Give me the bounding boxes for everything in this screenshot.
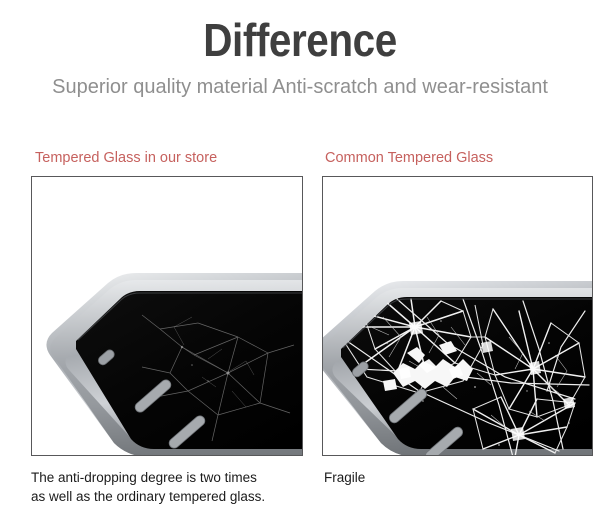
column-heading-common-glass: Common Tempered Glass: [325, 149, 493, 167]
phone-shattered-stage: [323, 177, 592, 455]
phone-shattered-illustration: [323, 177, 592, 455]
column-heading-our-store: Tempered Glass in our store: [35, 149, 217, 167]
phone-intact-illustration: [32, 177, 302, 455]
difference-comparison-page: Difference Superior quality material Ant…: [0, 0, 600, 510]
image-panel-common-glass: [322, 176, 593, 456]
page-title: Difference: [36, 12, 564, 68]
caption-common-glass: Fragile: [324, 468, 584, 487]
image-panel-our-store: [31, 176, 303, 456]
caption-our-store: The anti-dropping degree is two times as…: [31, 468, 296, 506]
page-subtitle: Superior quality material Anti-scratch a…: [0, 74, 600, 100]
phone-intact-stage: [32, 177, 302, 455]
